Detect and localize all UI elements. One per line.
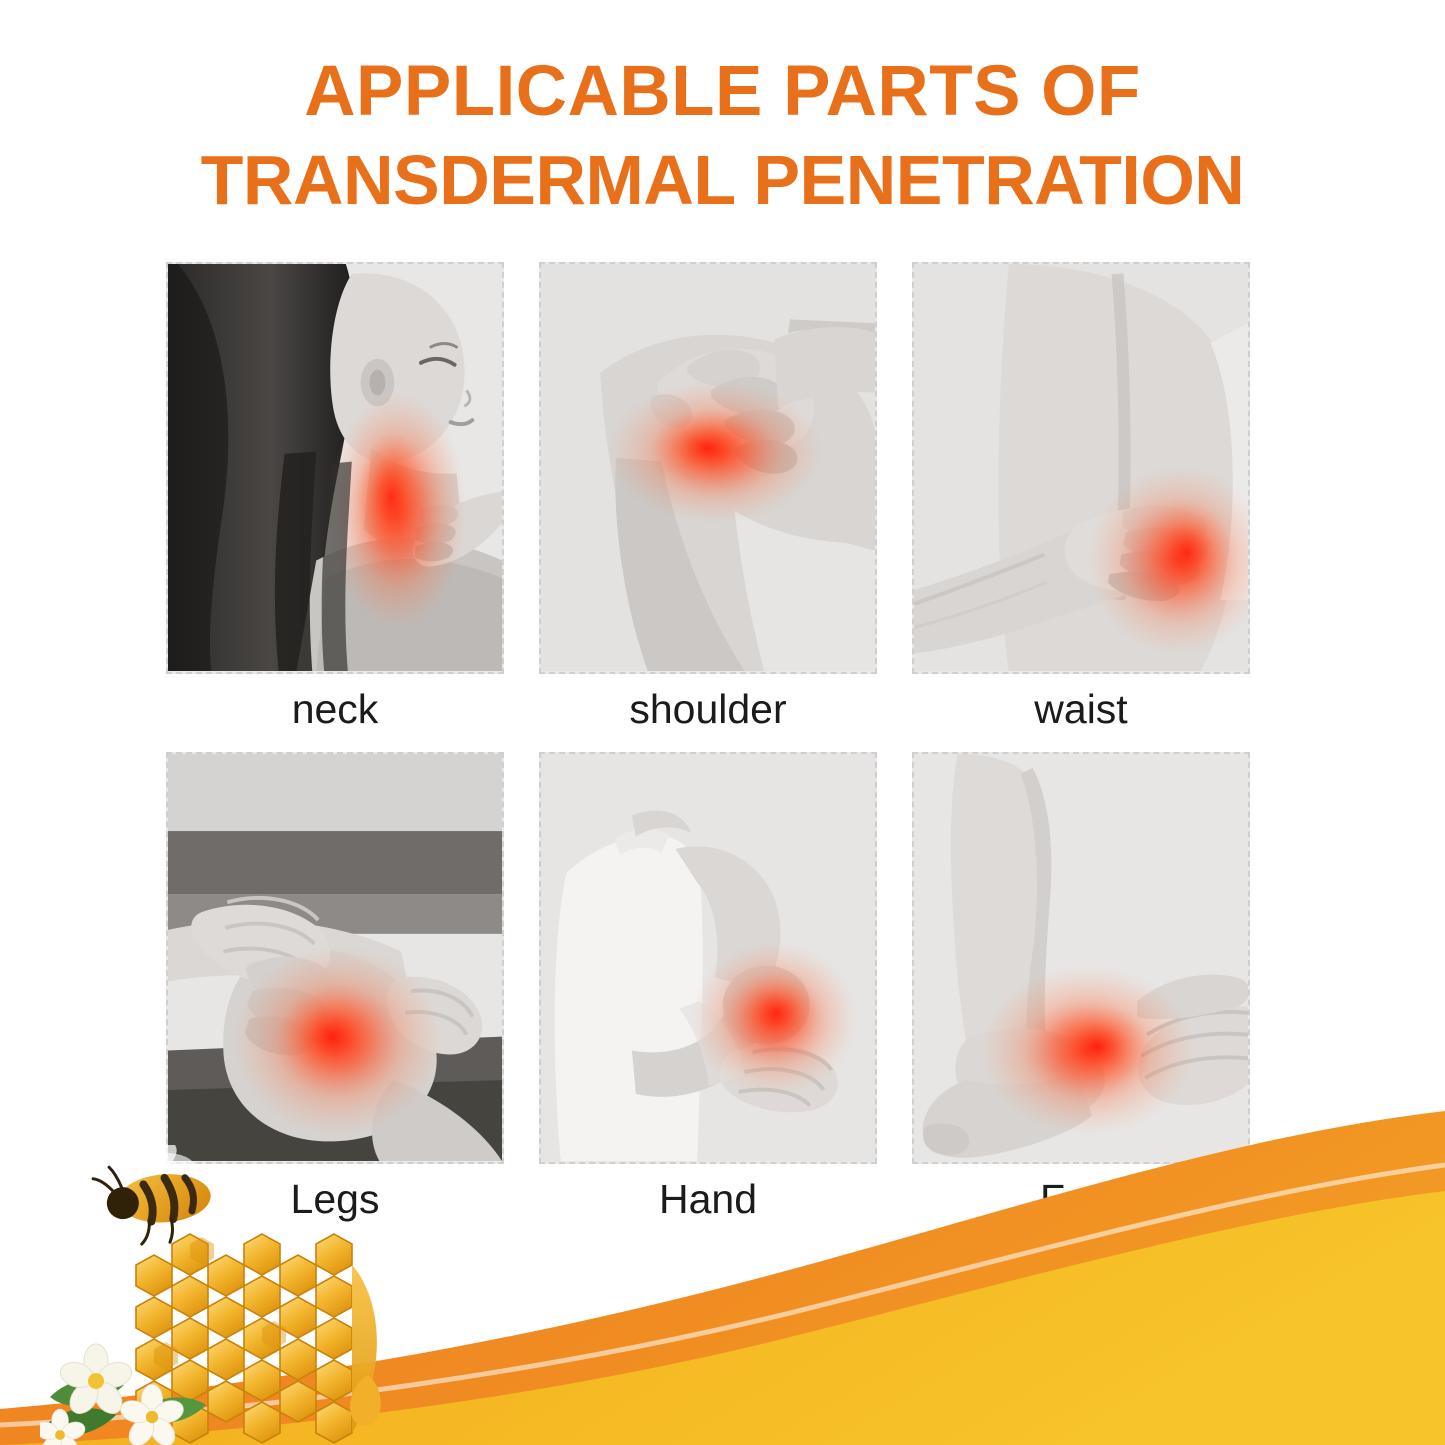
photo-shoulder [539,262,877,674]
photo-waist [912,262,1250,674]
bottom-wave-decoration [0,1015,1445,1445]
caption-waist: waist [912,674,1250,744]
caption-shoulder: shoulder [539,674,877,744]
photo-neck-illustration [168,264,502,671]
page-title-line-1: APPLICABLE PARTS OF [55,48,1390,136]
photo-shoulder-illustration [541,264,875,671]
page-title: APPLICABLE PARTS OF TRANSDERMAL PENETRAT… [0,48,1445,224]
honeycomb-graphic [40,1145,500,1445]
honeycomb-bee-flowers-decoration [40,1145,500,1445]
body-part-card-neck: neck [166,262,504,744]
body-part-card-waist: waist [912,262,1250,744]
page-title-line-2: TRANSDERMAL PENETRATION [55,136,1390,224]
caption-neck: neck [166,674,504,744]
photo-waist-illustration [914,264,1248,671]
photo-neck [166,262,504,674]
body-part-card-shoulder: shoulder [539,262,877,744]
infographic-page: APPLICABLE PARTS OF TRANSDERMAL PENETRAT… [0,0,1445,1445]
